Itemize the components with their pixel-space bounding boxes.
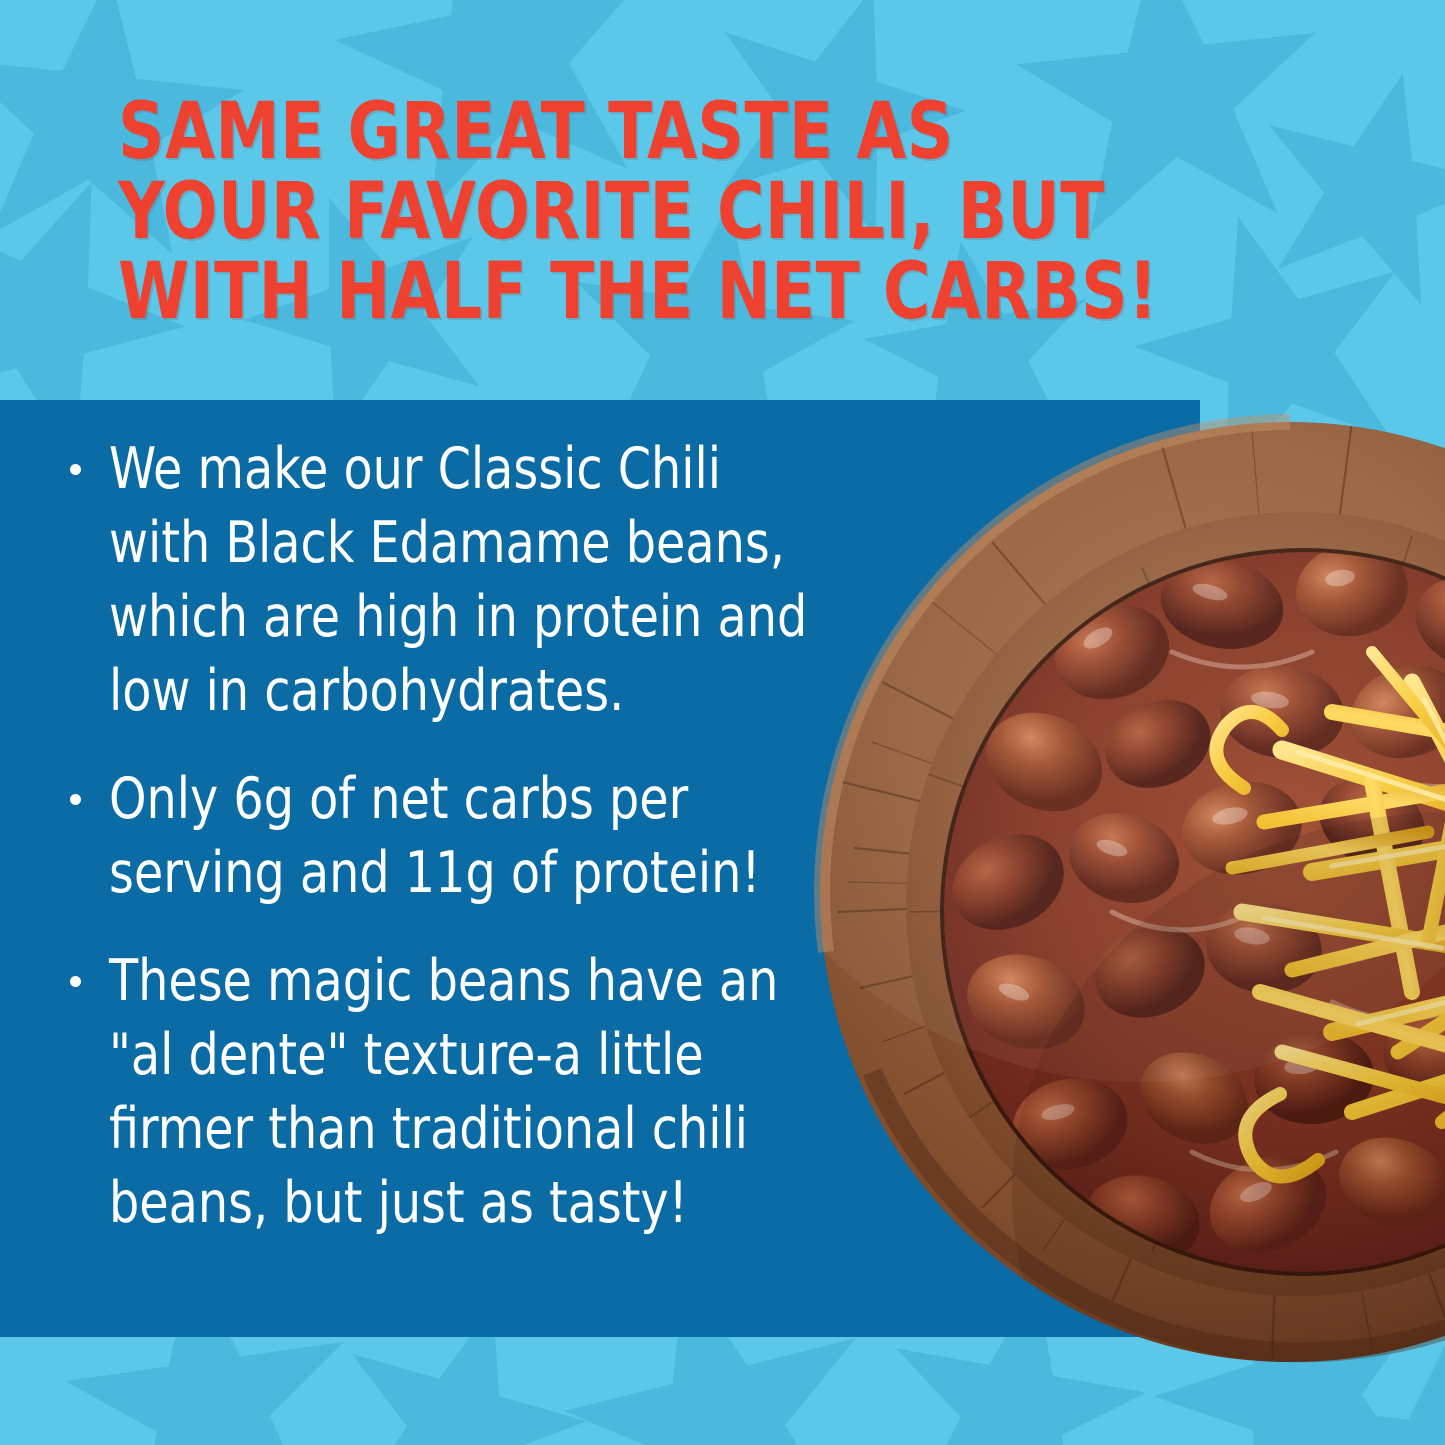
chili-bowl-image <box>812 352 1445 1392</box>
bullet-text-2: Only 6g of net carbs per serving and 11g… <box>109 762 817 910</box>
headline: SAME GREAT TASTE AS YOUR FAVORITE CHILI,… <box>118 92 1075 332</box>
headline-line-3: WITH HALF THE NET CARBS! <box>118 252 1075 332</box>
bullet-text-1: We make our Classic Chili with Black Eda… <box>109 432 817 728</box>
list-item: We make our Classic Chili with Black Eda… <box>70 432 870 728</box>
product-marketing-panel: SAME GREAT TASTE AS YOUR FAVORITE CHILI,… <box>0 0 1445 1445</box>
list-item: These magic beans have an "al dente" tex… <box>70 944 870 1240</box>
bullet-dot-icon <box>70 794 81 805</box>
headline-line-1: SAME GREAT TASTE AS <box>118 92 1075 172</box>
headline-line-2: YOUR FAVORITE CHILI, BUT <box>118 172 1075 252</box>
list-item: Only 6g of net carbs per serving and 11g… <box>70 762 870 910</box>
bullet-text-3: These magic beans have an "al dente" tex… <box>109 944 817 1240</box>
bullet-dot-icon <box>70 976 81 987</box>
feature-bullet-list: We make our Classic Chili with Black Eda… <box>70 432 870 1274</box>
bullet-dot-icon <box>70 464 81 475</box>
